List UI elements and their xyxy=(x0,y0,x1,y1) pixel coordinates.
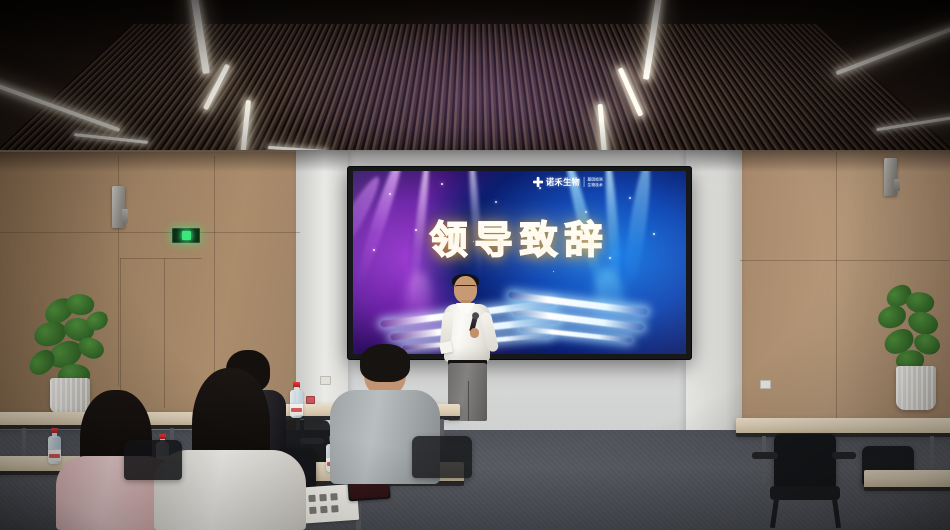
chair xyxy=(774,434,836,488)
desk-leg xyxy=(762,436,766,484)
chair-armrest xyxy=(832,452,856,459)
brand-tagline-line-1: 基因检测 xyxy=(587,177,602,182)
brand-tagline: 基因检测 生物技术 xyxy=(584,177,603,187)
desk-edge xyxy=(864,487,950,491)
stage-platform-graphic xyxy=(380,294,673,350)
wall-outlet xyxy=(760,380,771,389)
presenter-hand-right xyxy=(470,328,479,338)
exit-sign xyxy=(172,228,200,243)
eyeglasses-icon xyxy=(455,285,476,290)
door-frame-edge xyxy=(120,258,121,408)
desk xyxy=(864,470,950,488)
presentation-screen: 诺禾生物 基因检测 生物技术 领导致辞 xyxy=(353,171,686,354)
wall-outlet xyxy=(306,396,315,404)
wall-panel-seam xyxy=(0,232,300,233)
desk xyxy=(736,418,950,434)
brand-tagline-line-2: 生物技术 xyxy=(587,182,602,187)
cross-mark-icon xyxy=(533,177,543,187)
desk-edge xyxy=(736,433,950,437)
plant-pot xyxy=(896,366,936,410)
exit-sign-glyph xyxy=(182,231,191,240)
wall-panel-seam xyxy=(836,152,837,420)
chair-armrest xyxy=(752,452,778,459)
attendee-hair xyxy=(360,344,410,382)
right-column xyxy=(686,150,742,440)
led-display-panel: 诺禾生物 基因检测 生物技术 领导致辞 xyxy=(348,167,691,359)
brand-name: 诺禾生物 xyxy=(546,176,580,188)
wall-speaker xyxy=(884,158,897,196)
wall-speaker xyxy=(112,186,125,228)
conference-room-photo: 诺禾生物 基因检测 生物技术 领导致辞 xyxy=(0,0,950,530)
wall-panel-seam xyxy=(740,260,950,261)
presenter xyxy=(441,276,497,421)
door-frame-edge xyxy=(120,258,202,259)
chair xyxy=(124,440,182,480)
brand-logo: 诺禾生物 基因检测 生物技术 xyxy=(533,176,603,188)
chair-seat xyxy=(770,486,840,500)
chair xyxy=(412,436,472,478)
slide-title: 领导致辞 xyxy=(353,209,686,264)
